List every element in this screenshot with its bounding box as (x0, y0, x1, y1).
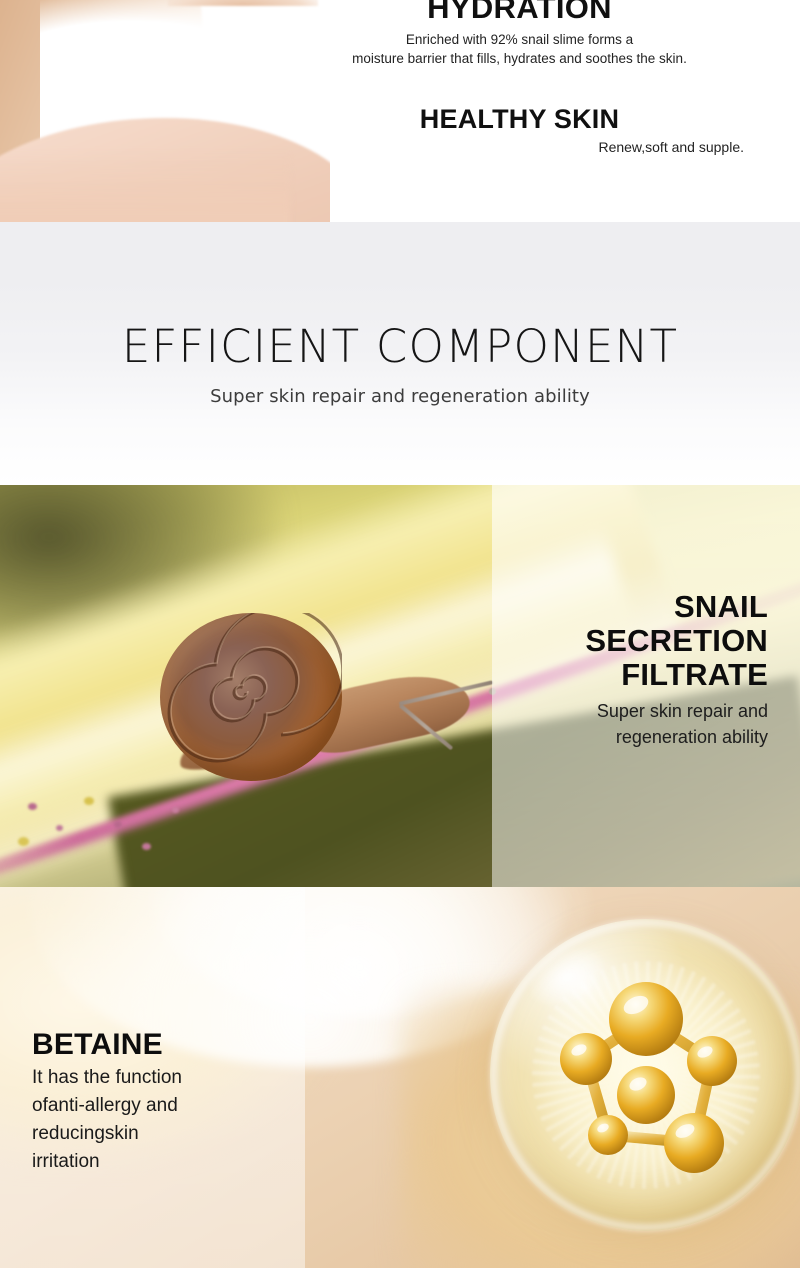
hydration-subtitle-line1: Enriched with 92% snail slime forms a (255, 30, 784, 49)
efficient-component-banner: EFFICIENT COMPONENT Super skin repair an… (0, 222, 800, 485)
betaine-description: It has the function ofanti-allergy and r… (32, 1064, 302, 1176)
snail-title-line1: SNAIL (492, 590, 768, 624)
healthy-skin-block: HEALTHY SKIN Renew,soft and supple. (255, 104, 784, 157)
snail-description: Super skin repair and regeneration abili… (492, 698, 768, 750)
betaine-desc-line3: reducingskin (32, 1120, 302, 1148)
hydration-title: HYDRATION (255, 0, 784, 23)
ingredient-snail-section: SNAIL SECRETION FILTRATE Super skin repa… (0, 485, 800, 887)
hydration-subtitle: Enriched with 92% snail slime forms a mo… (255, 30, 784, 68)
ingredient-betaine-section: BETAINE It has the function ofanti-aller… (0, 887, 800, 1268)
skin-shadow-gradient (0, 150, 290, 222)
snail-text-block: SNAIL SECRETION FILTRATE Super skin repa… (492, 485, 792, 887)
hero-section: HYDRATION Enriched with 92% snail slime … (0, 0, 800, 222)
betaine-desc-line1: It has the function (32, 1064, 302, 1092)
hydration-subtitle-line2: moisture barrier that fills, hydrates an… (255, 49, 784, 68)
banner-subtitle: Super skin repair and regeneration abili… (0, 386, 800, 407)
product-detail-page: HYDRATION Enriched with 92% snail slime … (0, 0, 800, 1268)
betaine-text-block: BETAINE It has the function ofanti-aller… (32, 887, 302, 1176)
snail-title-line2: SECRETION (492, 624, 768, 658)
betaine-desc-line4: irritation (32, 1148, 302, 1176)
banner-title: EFFICIENT COMPONENT (0, 222, 800, 372)
snail-shell-spiral (160, 613, 342, 781)
hero-copy: HYDRATION Enriched with 92% snail slime … (255, 0, 800, 157)
healthy-skin-subtitle: Renew,soft and supple. (255, 137, 784, 157)
betaine-desc-line2: ofanti-allergy and (32, 1092, 302, 1120)
betaine-title: BETAINE (32, 887, 302, 1062)
snail-desc-line1: Super skin repair and (492, 698, 768, 724)
leaf-speckles (10, 785, 240, 875)
golden-molecule-sphere-photo (480, 909, 800, 1268)
healthy-skin-title: HEALTHY SKIN (255, 104, 784, 134)
snail-title: SNAIL SECRETION FILTRATE (492, 485, 768, 692)
molecule-structure-icon (490, 919, 800, 1231)
snail-title-line3: FILTRATE (492, 658, 768, 692)
snail-desc-line2: regeneration ability (492, 724, 768, 750)
